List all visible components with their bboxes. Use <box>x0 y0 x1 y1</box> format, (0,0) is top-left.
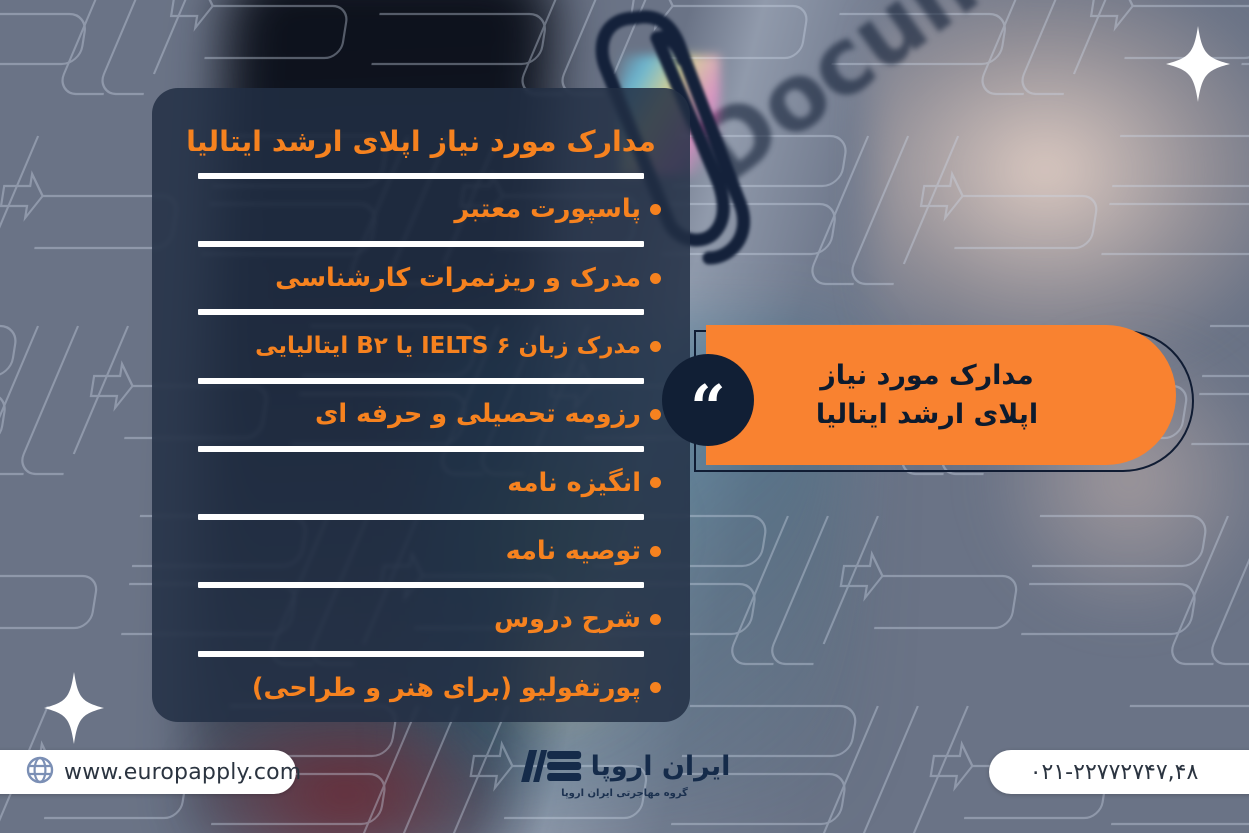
divider-rule-5 <box>198 446 644 452</box>
list-item-label: پاسپورت معتبر <box>454 194 641 225</box>
bullet-icon <box>650 273 661 284</box>
logo-wordmark: ایران اروپا <box>591 753 731 780</box>
list-item-label: انگیزه نامه <box>507 468 641 499</box>
bullet-icon <box>650 477 661 488</box>
website-pill[interactable]: www.europapply.com <box>0 750 296 794</box>
list-item: مدرک زبان IELTS ۶ یا B۲ ایتالیایی <box>180 322 662 370</box>
divider-rule-4 <box>198 378 644 384</box>
bullet-icon <box>650 682 661 693</box>
phone-number: ۰۲۱-۲۲۷۷۲۷۴۷,۴۸ <box>1030 760 1199 785</box>
badge-line-1: مدارک مورد نیاز <box>816 356 1038 395</box>
list-item-label: پورتفولیو (برای هنر و طراحی) <box>252 673 641 704</box>
list-item-label: توصیه نامه <box>506 536 641 567</box>
badge-line-2: اپلای ارشد ایتالیا <box>816 395 1038 434</box>
company-logo: ایران اروپا گروه مهاجرتی ایران <box>519 748 731 799</box>
badge-fill: مدارک مورد نیاز اپلای ارشد ایتالیا <box>706 325 1176 465</box>
divider-rule-3 <box>198 309 644 315</box>
divider-rule-7 <box>198 582 644 588</box>
logo-subtitle: گروه مهاجرتی ایران اروپا <box>519 788 731 799</box>
list-item: انگیزه نامه <box>180 459 662 507</box>
bullet-icon <box>650 546 661 557</box>
card-title: مدارک مورد نیاز اپلای ارشد ایتالیا <box>180 124 662 160</box>
logo-mark-icon <box>519 748 585 784</box>
phone-pill[interactable]: ۰۲۱-۲۲۷۷۲۷۴۷,۴۸ <box>989 750 1249 794</box>
bullet-icon <box>650 204 661 215</box>
list-item: توصیه نامه <box>180 527 662 575</box>
list-item: پورتفولیو (برای هنر و طراحی) <box>180 664 662 712</box>
requirements-card: مدارک مورد نیاز اپلای ارشد ایتالیا پاسپو… <box>152 88 690 722</box>
poster-canvas: Documents مدارک مورد نیاز اپلای ارشد ایت… <box>0 0 1249 833</box>
bullet-icon <box>650 409 661 420</box>
divider-rule-6 <box>198 514 644 520</box>
divider-rule-2 <box>198 241 644 247</box>
footer-bar: www.europapply.com ایران اروپا <box>0 740 1249 833</box>
divider-rule-8 <box>198 651 644 657</box>
divider-rule-1 <box>198 173 644 179</box>
badge-text: مدارک مورد نیاز اپلای ارشد ایتالیا <box>816 356 1066 434</box>
list-item: مدرک و ریزنمرات کارشناسی <box>180 254 662 302</box>
bullet-icon <box>650 614 661 625</box>
list-item-label: مدرک زبان IELTS ۶ یا B۲ ایتالیایی <box>255 333 641 361</box>
website-url: www.europapply.com <box>64 760 301 785</box>
headline-badge: مدارک مورد نیاز اپلای ارشد ایتالیا “ <box>686 325 1196 475</box>
quote-mark-badge: “ <box>662 354 754 446</box>
bullet-icon <box>650 341 661 352</box>
background-hand-blur <box>869 0 1249 380</box>
list-item-label: شرح دروس <box>494 604 641 635</box>
list-item: پاسپورت معتبر <box>180 186 662 234</box>
globe-icon <box>26 756 54 788</box>
list-item: شرح دروس <box>180 595 662 643</box>
list-item-label: رزومه تحصیلی و حرفه ای <box>315 399 641 430</box>
list-item: رزومه تحصیلی و حرفه ای <box>180 391 662 439</box>
list-item-label: مدرک و ریزنمرات کارشناسی <box>275 263 641 294</box>
